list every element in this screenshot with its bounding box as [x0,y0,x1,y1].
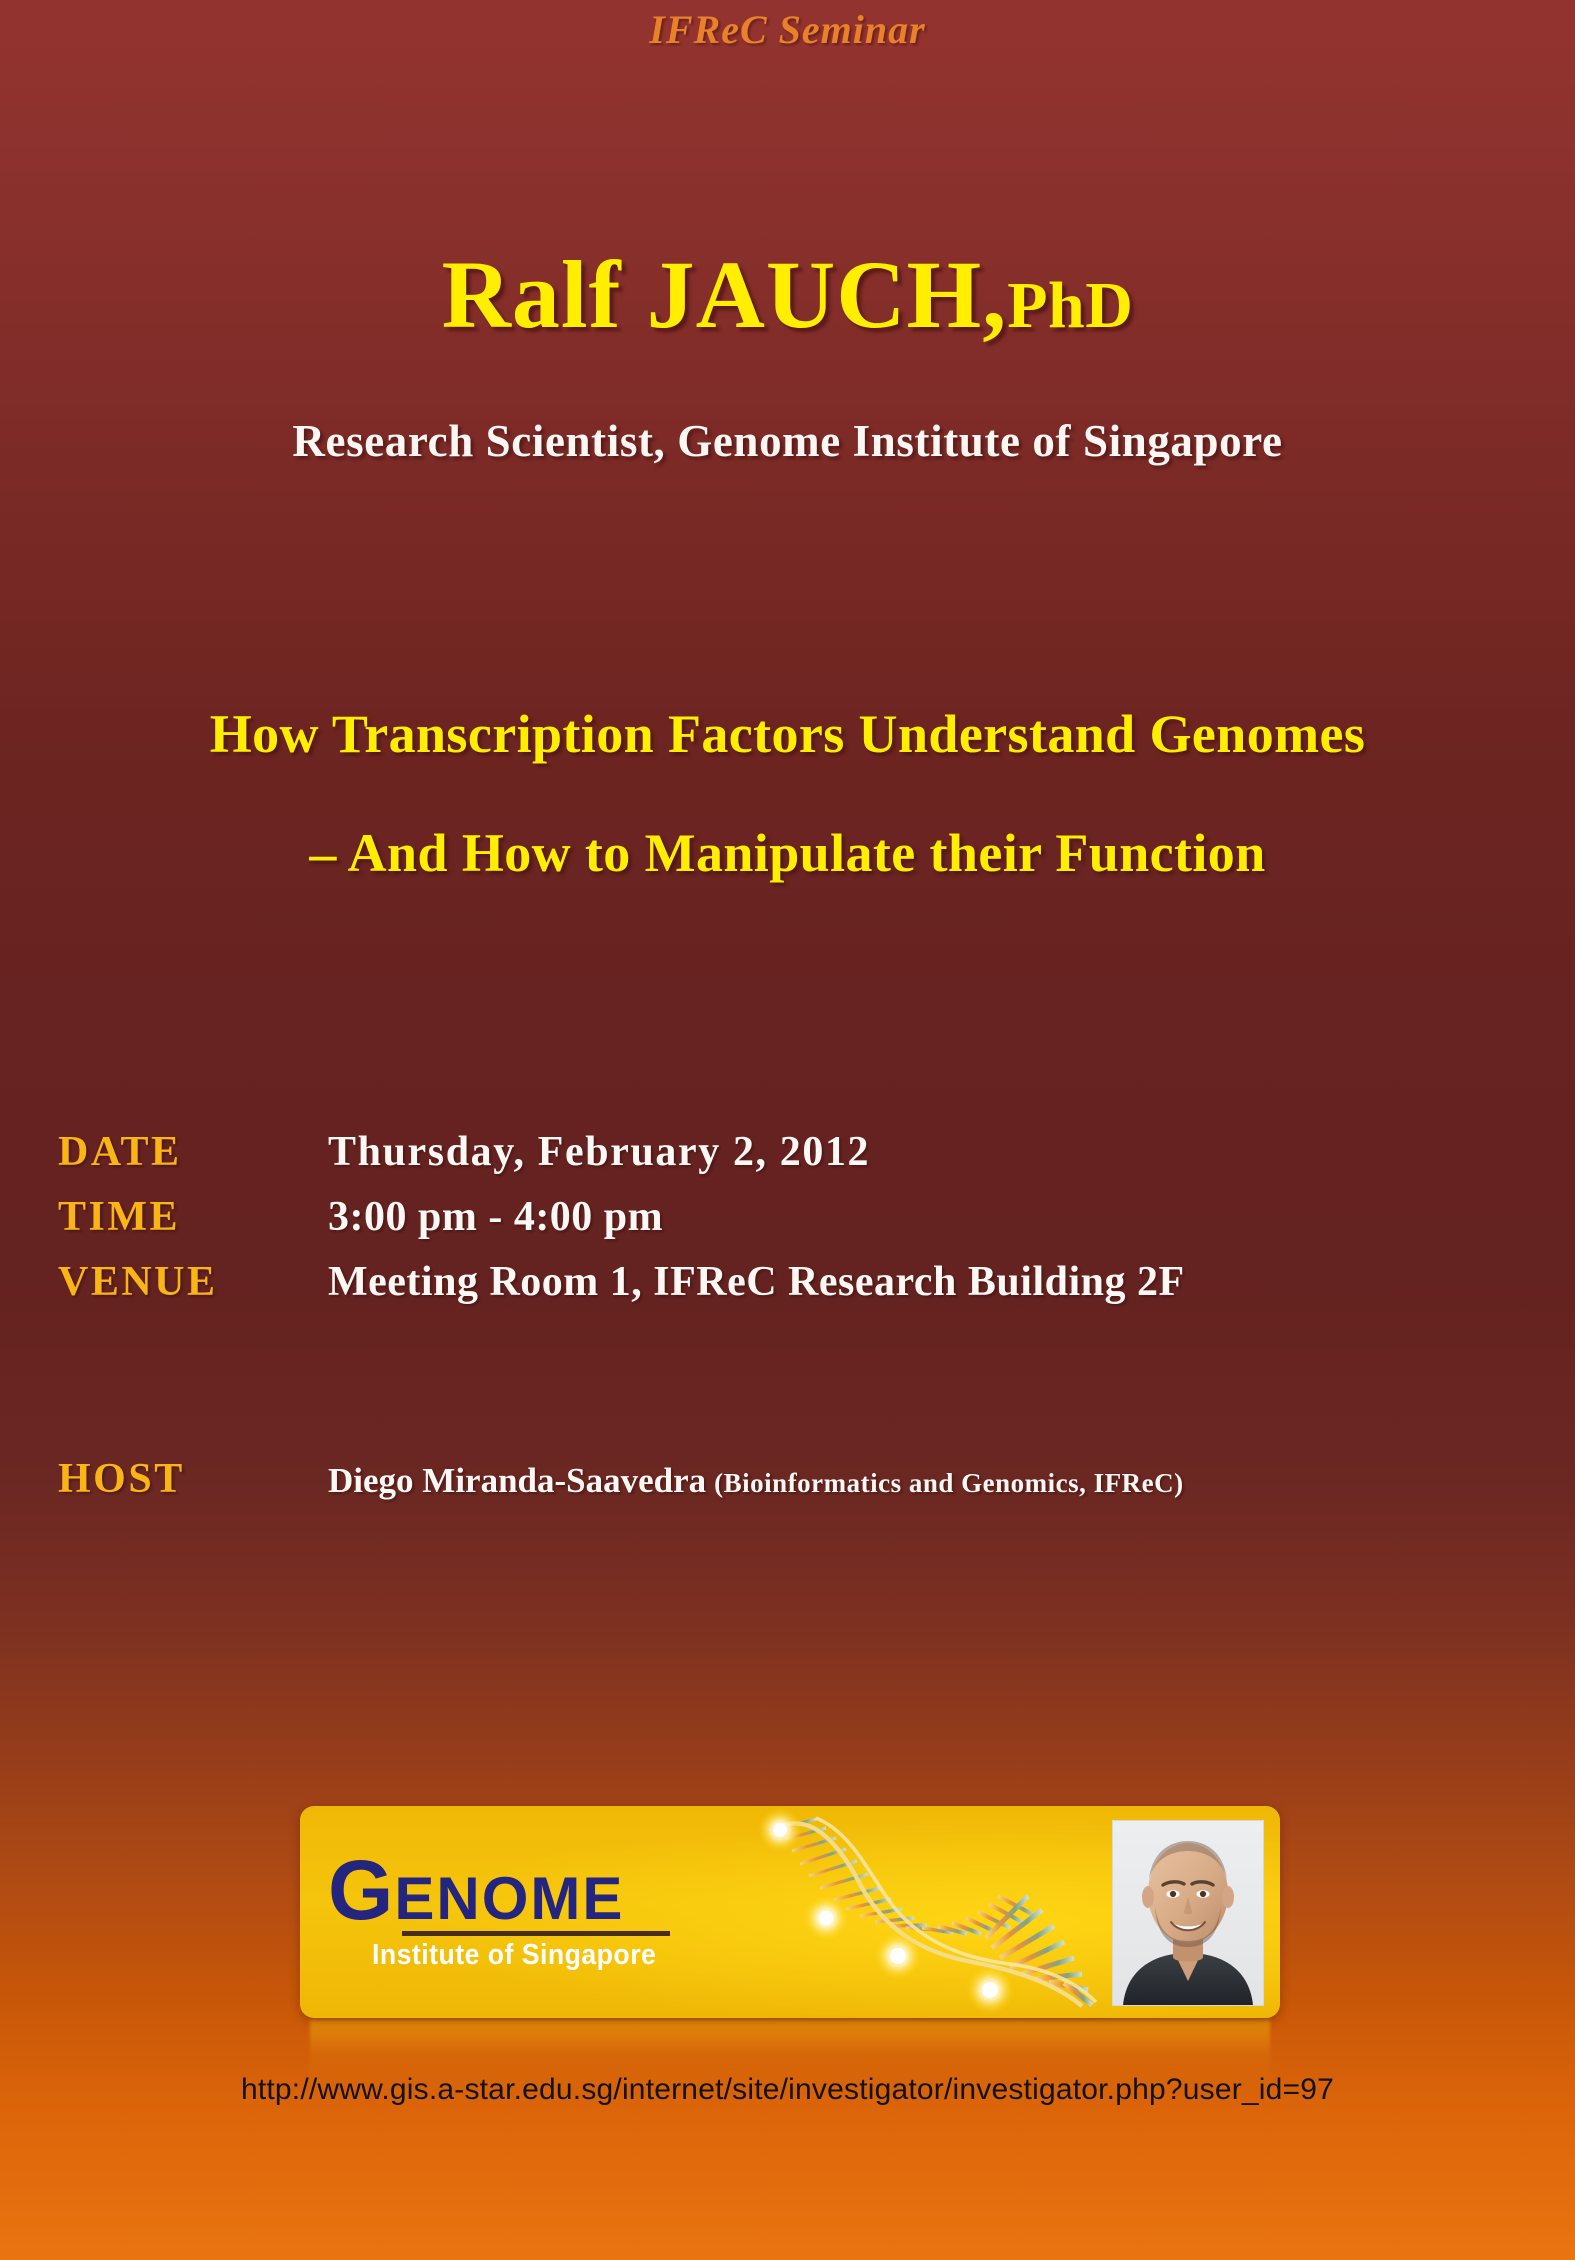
host-name: Diego Miranda-Saavedra [328,1461,706,1500]
host-value: Diego Miranda-Saavedra(Bioinformatics an… [328,1461,1184,1501]
speaker-name: Ralf JAUCH,PhD [0,247,1575,343]
seminar-header-label: IFReC Seminar [0,6,1575,53]
detail-row-time: TIME 3:00 pm - 4:00 pm [58,1193,1538,1241]
host-row: HOST Diego Miranda-Saavedra(Bioinformati… [58,1455,1538,1503]
talk-title: How Transcription Factors Understand Gen… [0,675,1575,913]
detail-value-venue: Meeting Room 1, IFReC Research Building … [328,1258,1185,1306]
event-details: DATE Thursday, February 2, 2012 TIME 3:0… [58,1128,1538,1323]
genome-logo-g: G [328,1843,394,1937]
genome-underline-rule [402,1931,670,1936]
host-label: HOST [58,1455,328,1503]
genome-logo: GENOME Institute of Singapore [328,1852,748,1972]
seminar-poster: IFReC Seminar Ralf JAUCH,PhD Research Sc… [0,0,1575,2260]
genome-logo-rest: ENOME [394,1865,624,1932]
speaker-portrait [1112,1820,1264,2006]
banner-surface: GENOME Institute of Singapore [300,1806,1280,2018]
detail-label-date: DATE [58,1128,328,1176]
dna-helix-icon [710,1806,1110,2018]
genome-logo-subtitle: Institute of Singapore [372,1939,718,1972]
detail-row-date: DATE Thursday, February 2, 2012 [58,1128,1538,1176]
detail-row-venue: VENUE Meeting Room 1, IFReC Research Bui… [58,1258,1538,1306]
host-department: (Bioinformatics and Genomics, IFReC) [714,1468,1183,1498]
speaker-degree-text: PhD [1007,269,1133,342]
detail-value-time: 3:00 pm - 4:00 pm [328,1193,663,1241]
speaker-affiliation: Research Scientist, Genome Institute of … [0,415,1575,467]
talk-title-line-1: How Transcription Factors Understand Gen… [0,675,1575,794]
speaker-name-text: Ralf JAUCH, [442,241,1008,348]
genome-wordmark: GENOME [328,1852,748,1929]
investigator-url[interactable]: http://www.gis.a-star.edu.sg/internet/si… [0,2073,1575,2107]
detail-label-time: TIME [58,1193,328,1241]
talk-title-line-2: – And How to Manipulate their Function [0,794,1575,913]
genome-institute-banner: GENOME Institute of Singapore [300,1806,1280,2018]
detail-value-date: Thursday, February 2, 2012 [328,1128,870,1176]
detail-label-venue: VENUE [58,1258,328,1306]
